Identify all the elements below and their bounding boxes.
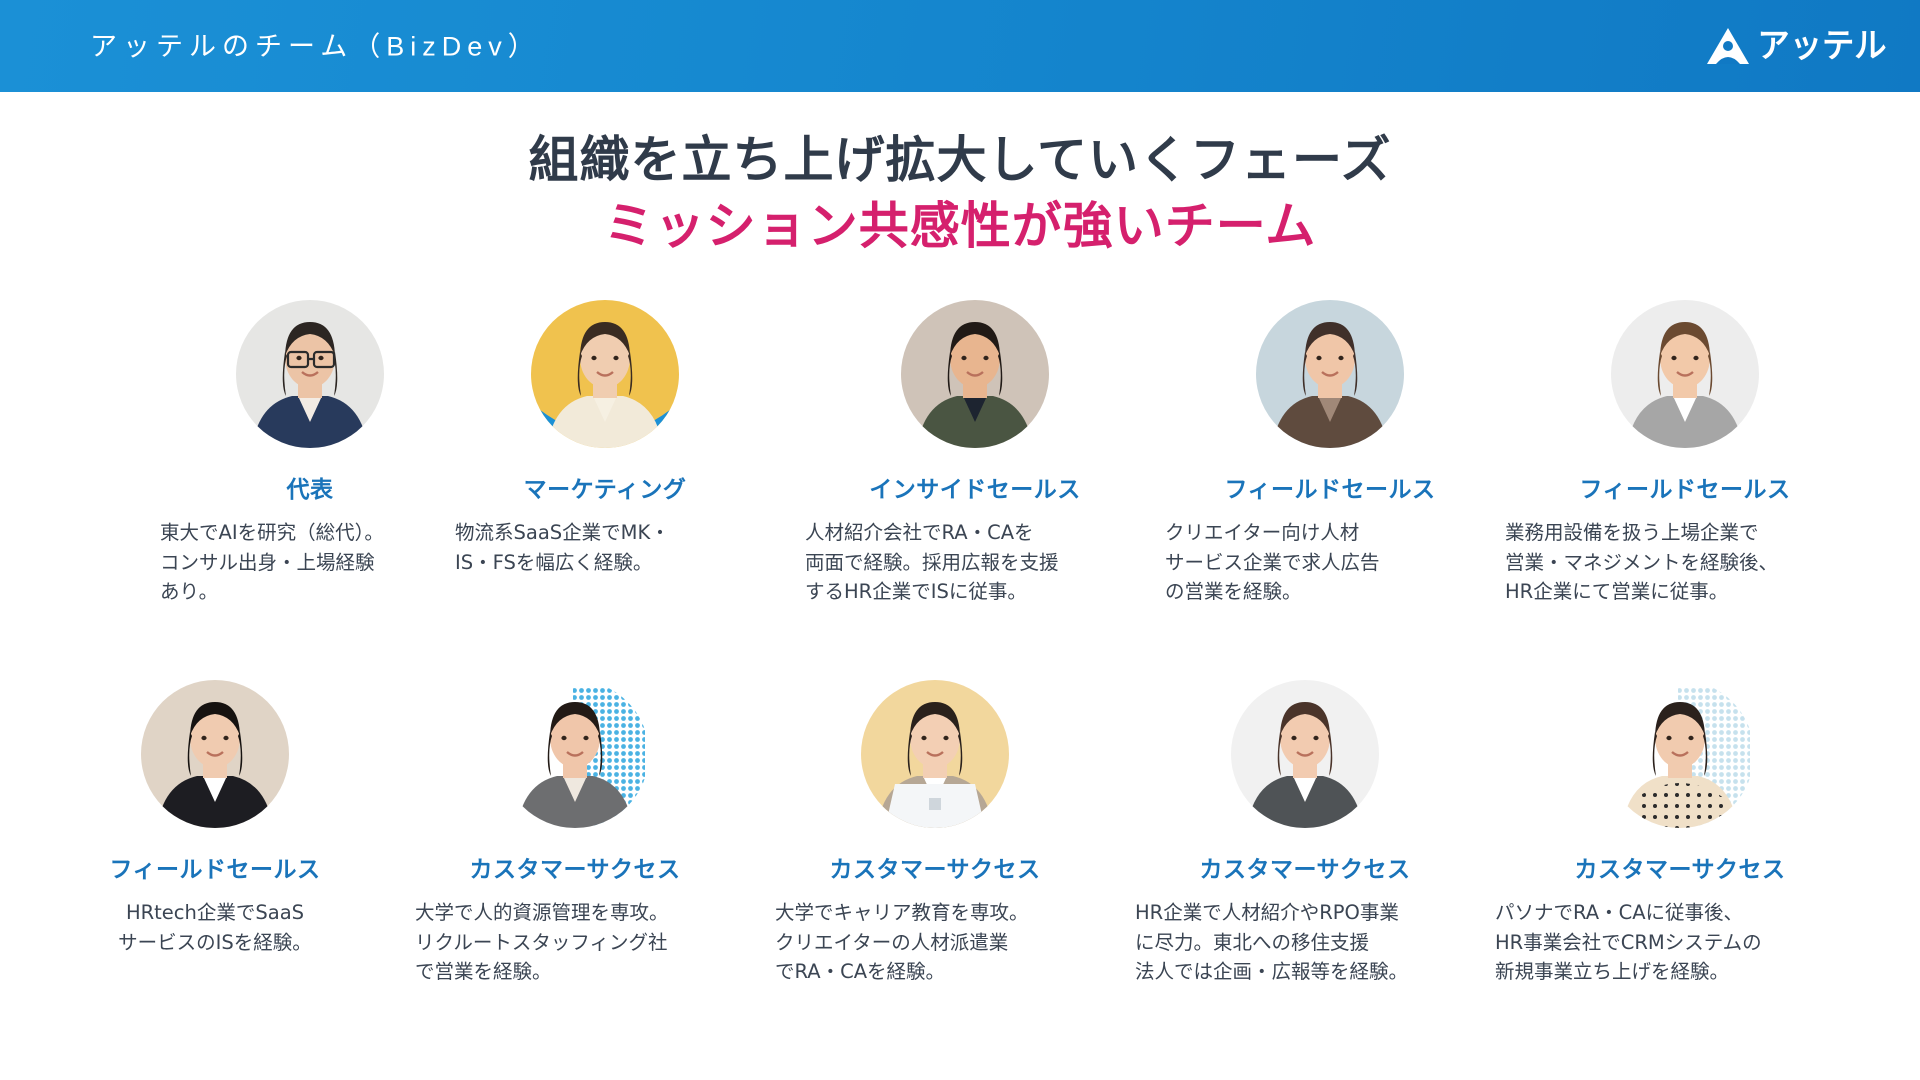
team-member-card: フィールドセールスHRtech企業でSaaS サービスのISを経験。 — [65, 680, 365, 957]
member-description: 大学で人的資源管理を専攻。 リクルートスタッフィング社 で営業を経験。 — [415, 898, 715, 987]
avatar — [901, 300, 1049, 448]
avatar — [1606, 680, 1754, 828]
member-description: 物流系SaaS企業でMK・ IS・FSを幅広く経験。 — [455, 518, 715, 577]
member-role-label: フィールドセールス — [1505, 470, 1865, 504]
team-member-card: インサイドセールス人材紹介会社でRA・CAを 両面で経験。採用広報を支援 するH… — [805, 300, 1145, 607]
member-description: 業務用設備を扱う上場企業で 営業・マネジメントを経験後、 HR企業にて営業に従事… — [1505, 518, 1845, 607]
avatar — [531, 300, 679, 448]
member-description: 人材紹介会社でRA・CAを 両面で経験。採用広報を支援 するHR企業でISに従事… — [805, 518, 1105, 607]
member-portrait-image — [1231, 680, 1379, 828]
team-member-card: カスタマーサクセス大学で人的資源管理を専攻。 リクルートスタッフィング社 で営業… — [415, 680, 735, 987]
page-title: アッテルのチーム（BizDev） — [90, 25, 541, 64]
member-role-label: カスタマーサクセス — [1495, 850, 1865, 884]
team-member-card: カスタマーサクセスパソナでRA・CAに従事後、 HR事業会社でCRMシステムの … — [1495, 680, 1865, 987]
member-portrait-image — [1611, 300, 1759, 448]
avatar — [1231, 680, 1379, 828]
member-description: 大学でキャリア教育を専攻。 クリエイターの人材派遣業 でRA・CAを経験。 — [775, 898, 1075, 987]
member-portrait-image — [1256, 300, 1404, 448]
avatar — [861, 680, 1009, 828]
avatar — [1611, 300, 1759, 448]
member-description: 東大でAIを研究（総代）。 コンサル出身・上場経験 あり。 — [160, 518, 410, 607]
avatar — [141, 680, 289, 828]
team-member-card: マーケティング物流系SaaS企業でMK・ IS・FSを幅広く経験。 — [455, 300, 755, 577]
member-role-label: マーケティング — [455, 470, 755, 504]
member-role-label: フィールドセールス — [65, 850, 365, 884]
member-portrait-image — [861, 680, 1009, 828]
team-member-card: カスタマーサクセス大学でキャリア教育を専攻。 クリエイターの人材派遣業 でRA・… — [775, 680, 1095, 987]
member-role-label: カスタマーサクセス — [1135, 850, 1475, 884]
member-role-label: カスタマーサクセス — [775, 850, 1095, 884]
member-role-label: インサイドセールス — [805, 470, 1145, 504]
member-role-label: カスタマーサクセス — [415, 850, 735, 884]
team-member-card: フィールドセールスクリエイター向け人材 サービス企業で求人広告 の営業を経験。 — [1165, 300, 1495, 607]
member-role-label: 代表 — [160, 470, 460, 504]
member-description: クリエイター向け人材 サービス企業で求人広告 の営業を経験。 — [1165, 518, 1455, 607]
avatar — [501, 680, 649, 828]
member-description: パソナでRA・CAに従事後、 HR事業会社でCRMシステムの 新規事業立ち上げを… — [1495, 898, 1845, 987]
member-portrait-image — [236, 300, 384, 448]
avatar — [1256, 300, 1404, 448]
team-member-card: フィールドセールス業務用設備を扱う上場企業で 営業・マネジメントを経験後、 HR… — [1505, 300, 1865, 607]
headline-line-1: 組織を立ち上げ拡大していくフェーズ — [0, 128, 1920, 192]
member-portrait-image — [1606, 680, 1754, 828]
brand-logo: アッテル — [1706, 26, 1890, 66]
team-member-card: カスタマーサクセスHR企業で人材紹介やRPO事業 に尽力。東北への移住支援 法人… — [1135, 680, 1475, 987]
member-portrait-image — [901, 300, 1049, 448]
headline-line-2: ミッション共感性が強いチーム — [0, 194, 1920, 258]
logo-wordmark: アッテル — [1757, 29, 1886, 63]
member-portrait-image — [531, 300, 679, 448]
avatar — [236, 300, 384, 448]
page-header: アッテルのチーム（BizDev） アッテル — [0, 0, 1920, 92]
member-description: HRtech企業でSaaS サービスのISを経験。 — [75, 898, 355, 957]
triangle-person-logo-icon — [1706, 26, 1750, 66]
slide-headline: 組織を立ち上げ拡大していくフェーズ ミッション共感性が強いチーム — [0, 128, 1920, 258]
team-member-card: 代表東大でAIを研究（総代）。 コンサル出身・上場経験 あり。 — [160, 300, 460, 607]
member-description: HR企業で人材紹介やRPO事業 に尽力。東北への移住支援 法人では企画・広報等を… — [1135, 898, 1455, 987]
member-portrait-image — [501, 680, 649, 828]
member-role-label: フィールドセールス — [1165, 470, 1495, 504]
member-portrait-image — [141, 680, 289, 828]
